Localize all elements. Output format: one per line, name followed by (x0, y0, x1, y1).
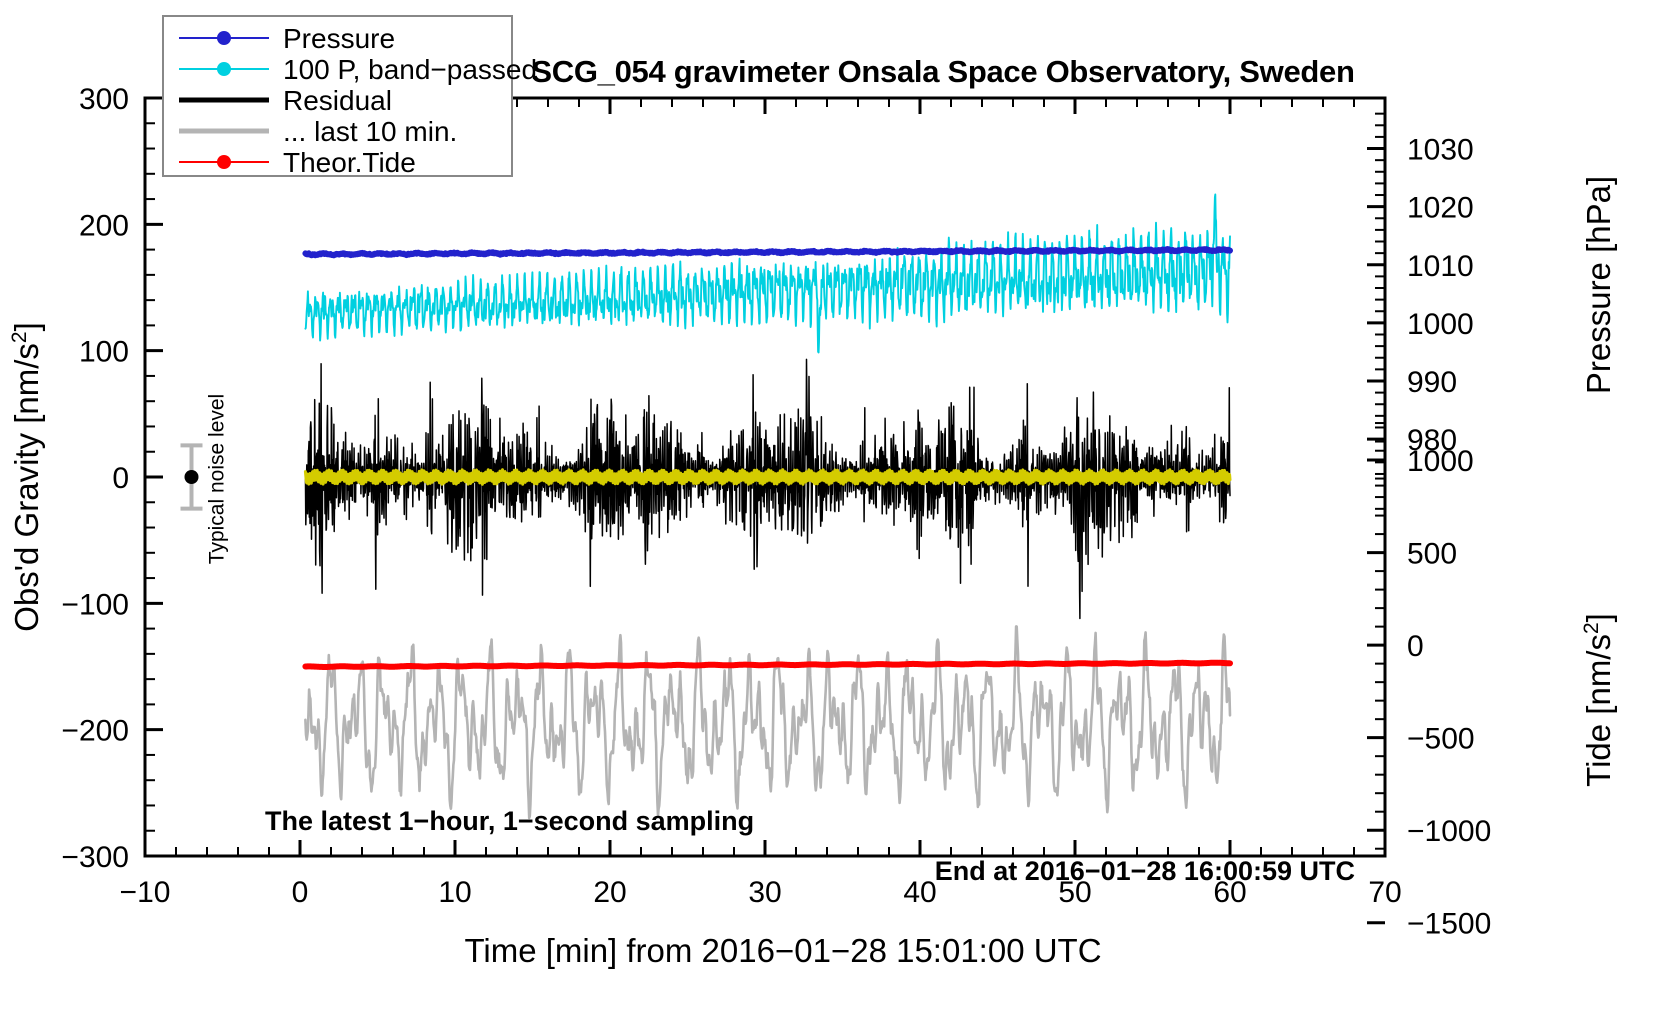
y-left-tick-label-1: 200 (79, 209, 129, 242)
x-axis-label: Time [min] from 2016−01−28 15:01:00 UTC (464, 932, 1101, 969)
annotation-bottom-right: End at 2016−01−28 16:00:59 UTC (935, 856, 1355, 886)
chart-title: SCG_054 gravimeter Onsala Space Observat… (531, 54, 1354, 89)
pressure-tick-label-2: 1010 (1407, 250, 1474, 283)
series-theor-tide (305, 663, 1230, 667)
legend-label-4: ... last 10 min. (283, 116, 457, 147)
legend-marker-5 (217, 155, 231, 169)
tide-tick-label-3: −500 (1407, 723, 1475, 756)
tide-tick-label-2: 0 (1407, 630, 1424, 663)
y-left-tick-label-3: 0 (112, 462, 129, 495)
pressure-tick-label-3: 1000 (1407, 308, 1474, 341)
svg-text:Tide [nm/s2]: Tide [nm/s2] (1580, 613, 1617, 787)
legend-marker-2 (217, 62, 231, 76)
legend-marker-1 (217, 31, 231, 45)
y-left-tick-label-4: −100 (61, 588, 129, 621)
series-pressure (305, 249, 1230, 255)
y-right-pressure-label: Pressure [hPa] (1580, 176, 1617, 394)
legend-label-1: Pressure (283, 23, 395, 54)
x-tick-label-2: 10 (438, 876, 471, 909)
x-tick-label-1: 0 (292, 876, 309, 909)
legend-label-3: Residual (283, 85, 392, 116)
y-left-tick-label-5: −200 (61, 715, 129, 748)
y-left-tick-label-2: 100 (79, 336, 129, 369)
series-last-10-min (305, 626, 1230, 818)
tide-tick-label-4: −1000 (1407, 815, 1491, 848)
x-tick-label-0: −10 (120, 876, 171, 909)
noise-center-dot (185, 470, 199, 484)
noise-level-label: Typical noise level (206, 394, 229, 564)
svg-text:Obs'd Gravity [nm/s2]: Obs'd Gravity [nm/s2] (8, 322, 45, 632)
x-tick-label-3: 20 (593, 876, 626, 909)
y-right-tide-label: Tide [nm/s2] (1580, 613, 1617, 787)
series-tide-overlay (305, 470, 1230, 485)
svg-text:Pressure [hPa]: Pressure [hPa] (1580, 176, 1617, 394)
tide-tick-label-5: −1500 (1407, 908, 1491, 941)
figure-canvas: −100102030405060703002001000−100−200−300… (0, 0, 1660, 1020)
legend-label-2: 100 P, band−passed (283, 54, 537, 85)
series-band-passed (305, 195, 1230, 353)
legend-label-5: Theor.Tide (283, 147, 416, 178)
gravimeter-plot: −100102030405060703002001000−100−200−300… (0, 0, 1660, 1020)
series-residual (305, 359, 1230, 618)
y-left-tick-label-6: −300 (61, 841, 129, 874)
x-tick-label-4: 30 (748, 876, 781, 909)
y-left-tick-label-0: 300 (79, 83, 129, 116)
x-tick-label-8: 70 (1368, 876, 1401, 909)
x-tick-label-5: 40 (903, 876, 936, 909)
annotation-bottom-left: The latest 1−hour, 1−second sampling (265, 806, 754, 836)
tide-tick-label-1: 500 (1407, 538, 1457, 571)
tide-tick-label-0: 1000 (1407, 445, 1474, 478)
y-left-axis-label: Obs'd Gravity [nm/s2] (8, 322, 45, 632)
pressure-tick-label-1: 1020 (1407, 192, 1474, 225)
pressure-tick-label-4: 990 (1407, 366, 1457, 399)
pressure-tick-label-0: 1030 (1407, 134, 1474, 167)
